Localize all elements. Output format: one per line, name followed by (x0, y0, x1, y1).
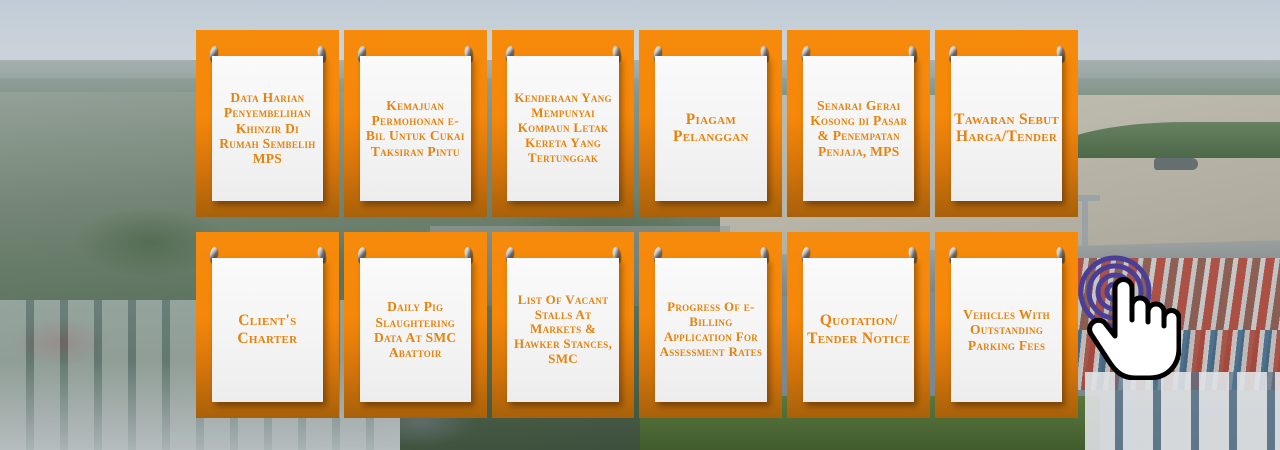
tile-paper-sheet: Kemajuan Permohonan e-Bil Untuk Cukai Ta… (360, 56, 471, 201)
tile-label: Client's Charter (215, 312, 320, 347)
tile-data-harian-penyembelihan[interactable]: Data Harian Penyembelihan Khinzir Di Rum… (196, 30, 339, 217)
tile-label: Senarai Gerai Kosong di Pasar & Penempat… (806, 98, 911, 160)
tile-label: Vehicles With Outstanding Parking Fees (954, 307, 1059, 353)
tile-label: Piagam Pelanggan (658, 111, 763, 146)
tile-tawaran-sebut-harga-tender[interactable]: Tawaran Sebut Harga/Tender (935, 30, 1078, 217)
tile-label: Progress Of e-Billing Application For As… (658, 300, 763, 359)
tile-vehicles-with-outstanding-parking-fees[interactable]: Vehicles With Outstanding Parking Fees (935, 232, 1078, 419)
tile-paper-sheet: Progress Of e-Billing Application For As… (655, 258, 766, 403)
tile-paper-sheet: Data Harian Penyembelihan Khinzir Di Rum… (212, 56, 323, 201)
tile-label: Data Harian Penyembelihan Khinzir Di Rum… (215, 90, 320, 167)
tile-progress-of-ebilling-application[interactable]: Progress Of e-Billing Application For As… (639, 232, 782, 419)
tile-label: Kemajuan Permohonan e-Bil Untuk Cukai Ta… (363, 98, 468, 160)
tile-list-of-vacant-stalls[interactable]: List Of Vacant Stalls At Markets & Hawke… (492, 232, 635, 419)
tile-label: Kenderaan Yang Mempunyai Kompaun Letak K… (510, 91, 615, 165)
tile-label: List Of Vacant Stalls At Markets & Hawke… (510, 293, 615, 367)
tile-paper-sheet: List Of Vacant Stalls At Markets & Hawke… (507, 258, 618, 403)
tile-paper-sheet: Piagam Pelanggan (655, 56, 766, 201)
tile-label: Tawaran Sebut Harga/Tender (954, 111, 1059, 146)
tile-kemajuan-permohonan-ebil[interactable]: Kemajuan Permohonan e-Bil Untuk Cukai Ta… (344, 30, 487, 217)
tile-paper-sheet: Tawaran Sebut Harga/Tender (951, 56, 1062, 201)
tile-paper-sheet: Daily Pig Slaughtering Data At SMC Abatt… (360, 258, 471, 403)
tile-quotation-tender-notice[interactable]: Quotation/ Tender Notice (787, 232, 930, 419)
tile-paper-sheet: Kenderaan Yang Mempunyai Kompaun Letak K… (507, 56, 618, 201)
tile-label: Daily Pig Slaughtering Data At SMC Abatt… (363, 299, 468, 361)
tile-paper-sheet: Senarai Gerai Kosong di Pasar & Penempat… (803, 56, 914, 201)
tile-senarai-gerai-kosong[interactable]: Senarai Gerai Kosong di Pasar & Penempat… (787, 30, 930, 217)
tile-daily-pig-slaughtering-data[interactable]: Daily Pig Slaughtering Data At SMC Abatt… (344, 232, 487, 419)
tile-paper-sheet: Vehicles With Outstanding Parking Fees (951, 258, 1062, 403)
tile-kenderaan-kompaun-letak-kereta[interactable]: Kenderaan Yang Mempunyai Kompaun Letak K… (492, 30, 635, 217)
tile-piagam-pelanggan[interactable]: Piagam Pelanggan (639, 30, 782, 217)
tile-grid: Data Harian Penyembelihan Khinzir Di Rum… (196, 30, 1078, 418)
tile-label: Quotation/ Tender Notice (806, 312, 911, 347)
tile-clients-charter[interactable]: Client's Charter (196, 232, 339, 419)
tile-paper-sheet: Client's Charter (212, 258, 323, 403)
tile-paper-sheet: Quotation/ Tender Notice (803, 258, 914, 403)
